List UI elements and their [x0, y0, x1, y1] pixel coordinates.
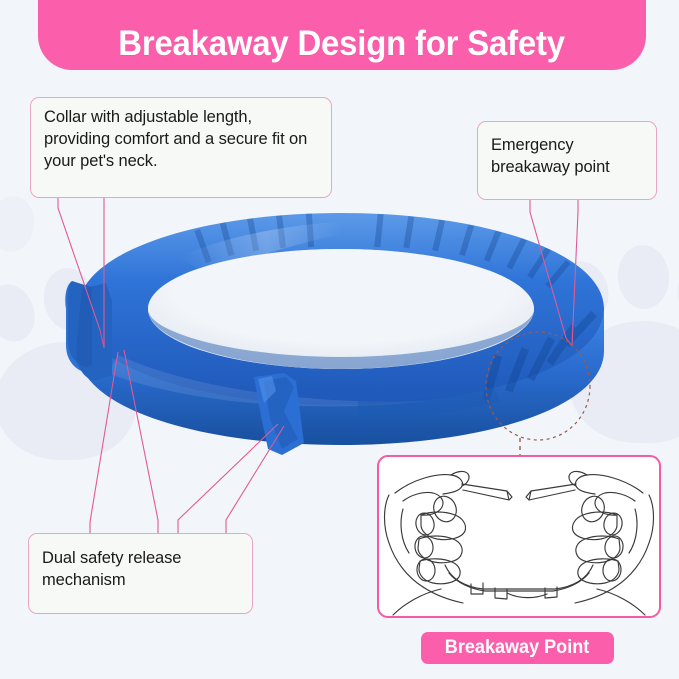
breakaway-point-badge: Breakaway Point	[421, 632, 614, 664]
callout-emergency-breakaway-text: Emergency breakaway point	[491, 136, 610, 176]
callout-dual-safety: Dual safety release mechanism	[28, 533, 253, 614]
hands-pulling-collar-icon	[379, 457, 659, 616]
page-title: Breakaway Design for Safety	[119, 24, 566, 64]
title-banner: Breakaway Design for Safety	[38, 0, 646, 70]
product-image-collar	[58, 205, 624, 460]
collar-buckle-left	[65, 281, 112, 381]
callout-dual-safety-text: Dual safety release mechanism	[42, 549, 181, 589]
callout-collar-length: Collar with adjustable length, providing…	[30, 97, 332, 198]
inset-illustration-panel	[377, 455, 661, 618]
callout-collar-length-text: Collar with adjustable length, providing…	[44, 108, 307, 170]
infographic-page: Collar with adjustable length, providing…	[0, 0, 679, 679]
breakaway-point-badge-label: Breakaway Point	[445, 637, 589, 659]
callout-emergency-breakaway: Emergency breakaway point	[477, 121, 657, 200]
collar-keeper-middle	[254, 373, 304, 455]
